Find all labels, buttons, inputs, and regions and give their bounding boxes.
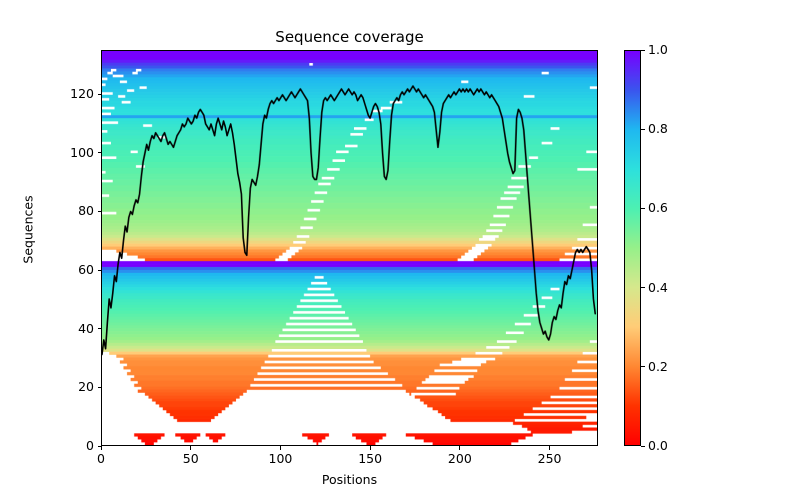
y-tick-mark	[98, 211, 102, 212]
y-tick-mark	[98, 270, 102, 271]
y-tick-label: 0	[86, 439, 94, 452]
x-axis-label: Positions	[101, 472, 598, 487]
colorbar-tick-label: 1.0	[648, 43, 668, 56]
colorbar-tick-mark	[641, 129, 645, 130]
y-tick-label: 60	[78, 263, 94, 276]
colorbar-tick-mark	[641, 287, 645, 288]
colorbar-tick-mark	[641, 208, 645, 209]
colorbar-tick-label: 0.6	[648, 201, 668, 214]
x-tick-label: 50	[183, 452, 199, 466]
figure-canvas: Sequence coverage 020406080100120 050100…	[0, 0, 800, 500]
x-tick-label: 200	[448, 452, 472, 466]
colorbar-tick-mark	[641, 446, 645, 447]
y-tick-label: 120	[70, 87, 94, 100]
heatmap-plot-area[interactable]	[101, 50, 598, 446]
colorbar[interactable]	[624, 50, 641, 446]
colorbar-gradient	[625, 51, 640, 445]
y-tick-mark	[98, 328, 102, 329]
y-tick-label: 80	[78, 204, 94, 217]
colorbar-tick-label: 0.2	[648, 360, 668, 373]
x-tick-label: 100	[268, 452, 292, 466]
page-title: Sequence coverage	[101, 28, 598, 46]
y-tick-mark	[98, 94, 102, 95]
x-tick-mark	[370, 446, 371, 450]
colorbar-tick-mark	[641, 50, 645, 51]
y-tick-label: 40	[78, 322, 94, 335]
x-tick-mark	[459, 446, 460, 450]
colorbar-tick-label: 0.0	[648, 439, 668, 452]
x-tick-mark	[190, 446, 191, 450]
x-tick-label: 0	[97, 452, 105, 466]
y-tick-label: 100	[70, 146, 94, 159]
x-tick-mark	[280, 446, 281, 450]
y-tick-label: 20	[78, 380, 94, 393]
y-tick-mark	[98, 152, 102, 153]
coverage-line	[102, 51, 597, 445]
colorbar-tick-label: 0.4	[648, 281, 668, 294]
colorbar-tick-mark	[641, 366, 645, 367]
colorbar-tick-label: 0.8	[648, 122, 668, 135]
y-tick-mark	[98, 387, 102, 388]
x-tick-mark	[549, 446, 550, 450]
y-axis-label: Sequences	[21, 155, 36, 305]
x-tick-mark	[101, 446, 102, 450]
x-tick-label: 250	[538, 452, 562, 466]
x-tick-label: 150	[358, 452, 382, 466]
